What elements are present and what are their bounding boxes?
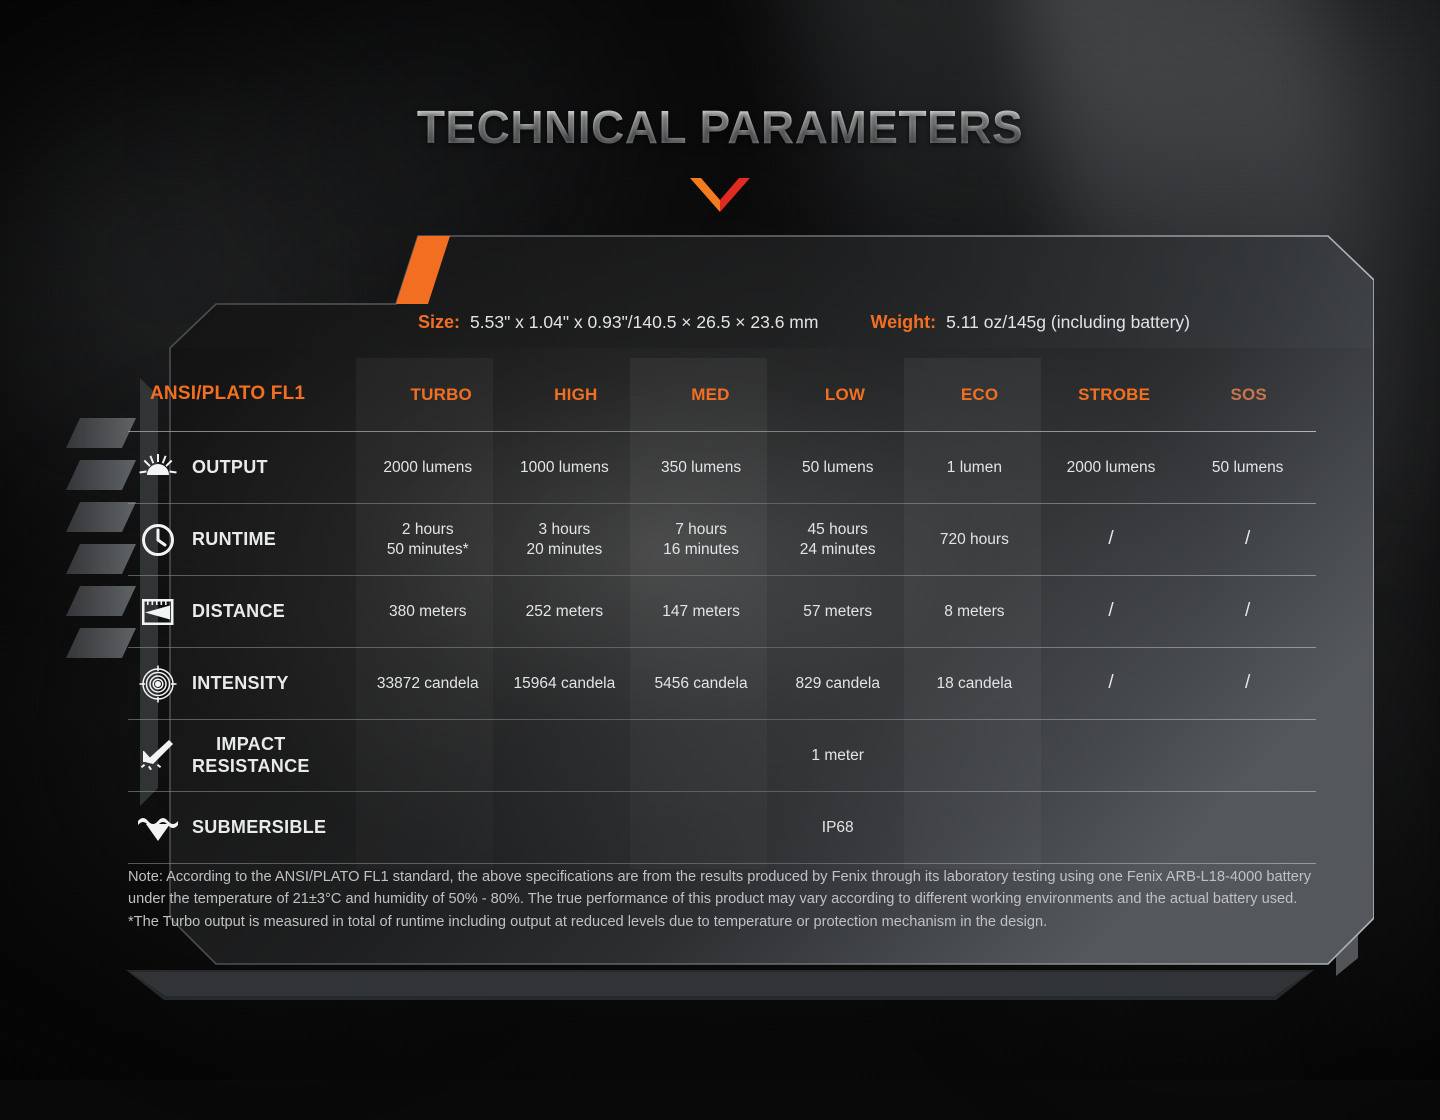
size-weight-line: Size: 5.53" x 1.04" x 0.93"/140.5 × 26.5…	[418, 300, 1374, 344]
row-label-impact: IMPACT RESISTANCE	[128, 720, 359, 791]
cell-intensity-turbo: 33872 candela	[359, 648, 496, 719]
spec-panel: Size: 5.53" x 1.04" x 0.93"/140.5 × 26.5…	[66, 228, 1374, 1003]
size-label: Size:	[418, 312, 460, 333]
table-row: OUTPUT 2000 lumens 1000 lumens 350 lumen…	[128, 432, 1316, 503]
row-label-output: OUTPUT	[128, 432, 359, 503]
row-label-distance: DISTANCE	[128, 576, 359, 647]
cell-runtime-turbo: 2 hours 50 minutes*	[359, 504, 496, 575]
cell-submersible-value: IP68	[359, 792, 1316, 863]
cell-output-high: 1000 lumens	[496, 432, 633, 503]
cell-output-med: 350 lumens	[633, 432, 770, 503]
row-label-intensity: INTENSITY	[128, 648, 359, 719]
row-label-text: OUTPUT	[192, 456, 268, 479]
table-row: DISTANCE 380 meters 252 meters 147 meter…	[128, 576, 1316, 647]
cell-runtime-med: 7 hours 16 minutes	[633, 504, 770, 575]
size-value: 5.53" x 1.04" x 0.93"/140.5 × 26.5 × 23.…	[470, 312, 818, 333]
footnote: Note: According to the ANSI/PLATO FL1 st…	[128, 866, 1316, 933]
cell-intensity-low: 829 candela	[769, 648, 906, 719]
target-icon	[132, 664, 184, 704]
cell-distance-sos: /	[1179, 576, 1316, 647]
clock-icon	[132, 522, 184, 558]
cell-distance-high: 252 meters	[496, 576, 633, 647]
row-label-text: IMPACT RESISTANCE	[192, 734, 310, 777]
cell-distance-strobe: /	[1043, 576, 1180, 647]
header-med: MED	[643, 358, 778, 431]
header-sos: SOS	[1181, 358, 1316, 431]
table-header-row: ANSI/PLATO FL1 TURBO HIGH MED LOW ECO ST…	[128, 358, 1316, 431]
cell-output-strobe: 2000 lumens	[1043, 432, 1180, 503]
divider	[128, 863, 1316, 864]
cell-distance-med: 147 meters	[633, 576, 770, 647]
cell-runtime-low: 45 hours 24 minutes	[769, 504, 906, 575]
page-title: TECHNICAL PARAMETERS	[0, 100, 1440, 154]
cell-output-turbo: 2000 lumens	[359, 432, 496, 503]
impact-icon	[132, 738, 184, 774]
header-turbo: TURBO	[374, 358, 509, 431]
table-row: SUBMERSIBLE IP68	[128, 792, 1316, 863]
sunburst-icon	[132, 453, 184, 483]
cell-runtime-eco: 720 hours	[906, 504, 1043, 575]
cell-intensity-sos: /	[1179, 648, 1316, 719]
table-row: IMPACT RESISTANCE 1 meter	[128, 720, 1316, 791]
cell-runtime-strobe: /	[1043, 504, 1180, 575]
row-label-submersible: SUBMERSIBLE	[128, 792, 359, 863]
header-strobe: STROBE	[1047, 358, 1182, 431]
cell-intensity-strobe: /	[1043, 648, 1180, 719]
cell-runtime-sos: /	[1179, 504, 1316, 575]
cell-impact-value: 1 meter	[359, 720, 1316, 791]
header-low: LOW	[778, 358, 913, 431]
chevron-down-icon	[690, 178, 750, 216]
row-label-text: DISTANCE	[192, 600, 285, 623]
cell-intensity-high: 15964 candela	[496, 648, 633, 719]
weight-label: Weight:	[870, 312, 936, 333]
cell-output-sos: 50 lumens	[1179, 432, 1316, 503]
row-label-text: INTENSITY	[192, 672, 289, 695]
cell-distance-turbo: 380 meters	[359, 576, 496, 647]
submersible-icon	[132, 813, 184, 843]
weight-value: 5.11 oz/145g (including battery)	[946, 312, 1190, 333]
row-label-text: SUBMERSIBLE	[192, 816, 326, 839]
footnote-line-1: Note: According to the ANSI/PLATO FL1 st…	[128, 866, 1316, 911]
cell-runtime-high: 3 hours 20 minutes	[496, 504, 633, 575]
spec-table: ANSI/PLATO FL1 TURBO HIGH MED LOW ECO ST…	[128, 358, 1316, 864]
cell-distance-low: 57 meters	[769, 576, 906, 647]
table-row: RUNTIME 2 hours 50 minutes* 3 hours 20 m…	[128, 504, 1316, 575]
ruler-beam-icon	[132, 595, 184, 629]
cell-distance-eco: 8 meters	[906, 576, 1043, 647]
cell-intensity-eco: 18 candela	[906, 648, 1043, 719]
cell-output-eco: 1 lumen	[906, 432, 1043, 503]
row-label-runtime: RUNTIME	[128, 504, 359, 575]
cell-output-low: 50 lumens	[769, 432, 906, 503]
footnote-line-2: *The Turbo output is measured in total o…	[128, 911, 1316, 933]
row-label-text: RUNTIME	[192, 528, 276, 551]
cell-intensity-med: 5456 candela	[633, 648, 770, 719]
header-ansi: ANSI/PLATO FL1	[128, 358, 374, 431]
header-high: HIGH	[509, 358, 644, 431]
header-eco: ECO	[912, 358, 1047, 431]
table-row: INTENSITY 33872 candela 15964 candela 54…	[128, 648, 1316, 719]
